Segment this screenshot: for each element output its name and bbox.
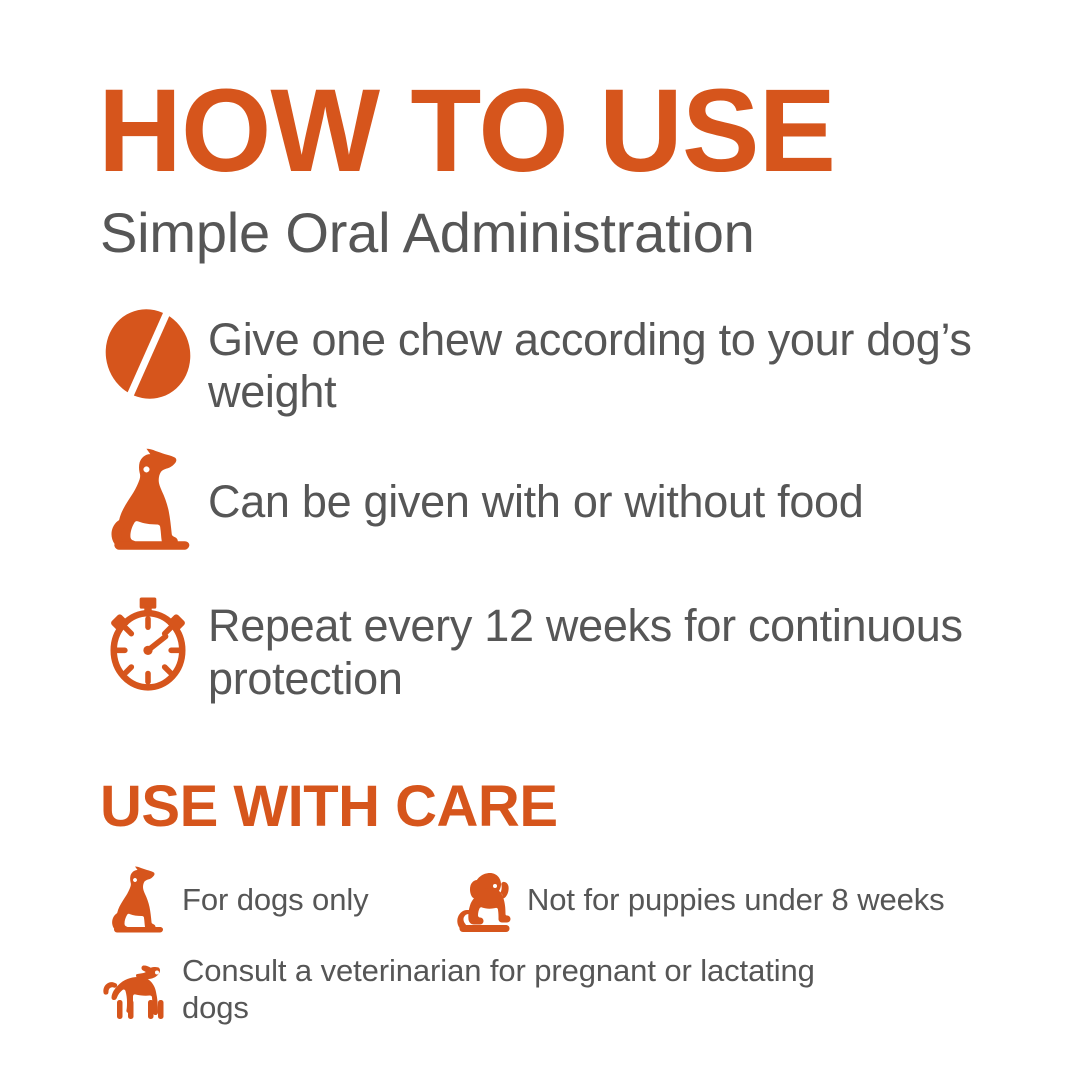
- list-item-label: Give one chew according to your dog’s we…: [196, 300, 1038, 418]
- scored-tablet-icon: [100, 300, 196, 408]
- stopwatch-icon: [100, 588, 196, 696]
- list-item-label: Repeat every 12 weeks for continuous pro…: [196, 588, 1038, 704]
- list-item: Not for puppies under 8 weeks: [445, 862, 945, 938]
- sitting-puppy-icon: [445, 862, 517, 938]
- care-items-row-two: Consult a veterinarian for pregnant or l…: [100, 948, 1040, 1030]
- list-item: Repeat every 12 weeks for continuous pro…: [100, 588, 1040, 704]
- list-item-label: Not for puppies under 8 weeks: [517, 881, 945, 918]
- how-to-use-infographic: HOW TO USE Simple Oral Administration Gi…: [0, 0, 1080, 1080]
- page-title: HOW TO USE: [98, 72, 835, 190]
- list-item-label: Consult a veterinarian for pregnant or l…: [176, 948, 872, 1026]
- list-item: Can be given with or without food: [100, 446, 1040, 554]
- care-items-row-one: For dogs only: [100, 862, 1040, 938]
- sitting-dog-icon: [100, 862, 172, 938]
- steps-list: Give one chew according to your dog’s we…: [100, 300, 1040, 723]
- list-item: Give one chew according to your dog’s we…: [100, 300, 1040, 418]
- care-section-title: USE WITH CARE: [100, 778, 558, 836]
- page-subtitle: Simple Oral Administration: [100, 205, 755, 261]
- standing-dog-icon: [100, 948, 176, 1030]
- list-item-label: Can be given with or without food: [196, 446, 864, 528]
- sitting-dog-icon: [100, 446, 196, 554]
- list-item: For dogs only: [100, 862, 445, 938]
- list-item-label: For dogs only: [172, 881, 369, 918]
